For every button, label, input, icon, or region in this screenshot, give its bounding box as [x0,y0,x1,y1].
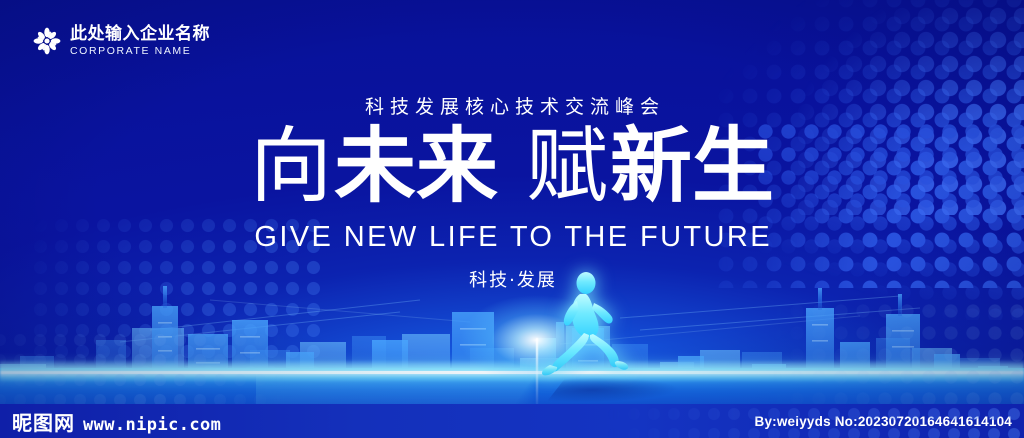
title-char-2: 未来 [334,119,498,214]
headline-block: 科技发展核心技术交流峰会 向未来赋新生 GIVE NEW LIFE TO THE… [0,92,1024,292]
subtitle-english: GIVE NEW LIFE TO THE FUTURE [0,221,1024,254]
watermark-credit: By:weiyyds No:20230720164641614104 [755,414,1013,429]
corporate-logo[interactable]: 此处输入企业名称 CORPORATE NAME [32,26,210,57]
title-char-3: 赋 [526,119,610,214]
company-name-en: CORPORATE NAME [70,46,210,57]
poster-canvas: 此处输入企业名称 CORPORATE NAME 科技发展核心技术交流峰会 向未来… [0,0,1024,438]
company-name-cn: 此处输入企业名称 [70,26,210,43]
watermark-bar: 昵图网 www.nipic.com By:weiyyds No:20230720… [0,404,1024,438]
watermark-brand[interactable]: 昵图网 www.nipic.com [12,407,221,436]
logo-text-block: 此处输入企业名称 CORPORATE NAME [70,26,210,57]
title-char-4: 新生 [610,119,774,214]
main-title: 向未来赋新生 [0,125,1024,209]
watermark-site-url[interactable]: www.nipic.com [83,415,221,435]
flower-logo-icon [32,26,62,56]
watermark-site-cn: 昵图网 [12,407,75,436]
subtitle-chinese: 科技·发展 [0,266,1024,292]
event-kicker: 科技发展核心技术交流峰会 [0,92,1024,119]
title-char-1: 向 [250,119,334,214]
